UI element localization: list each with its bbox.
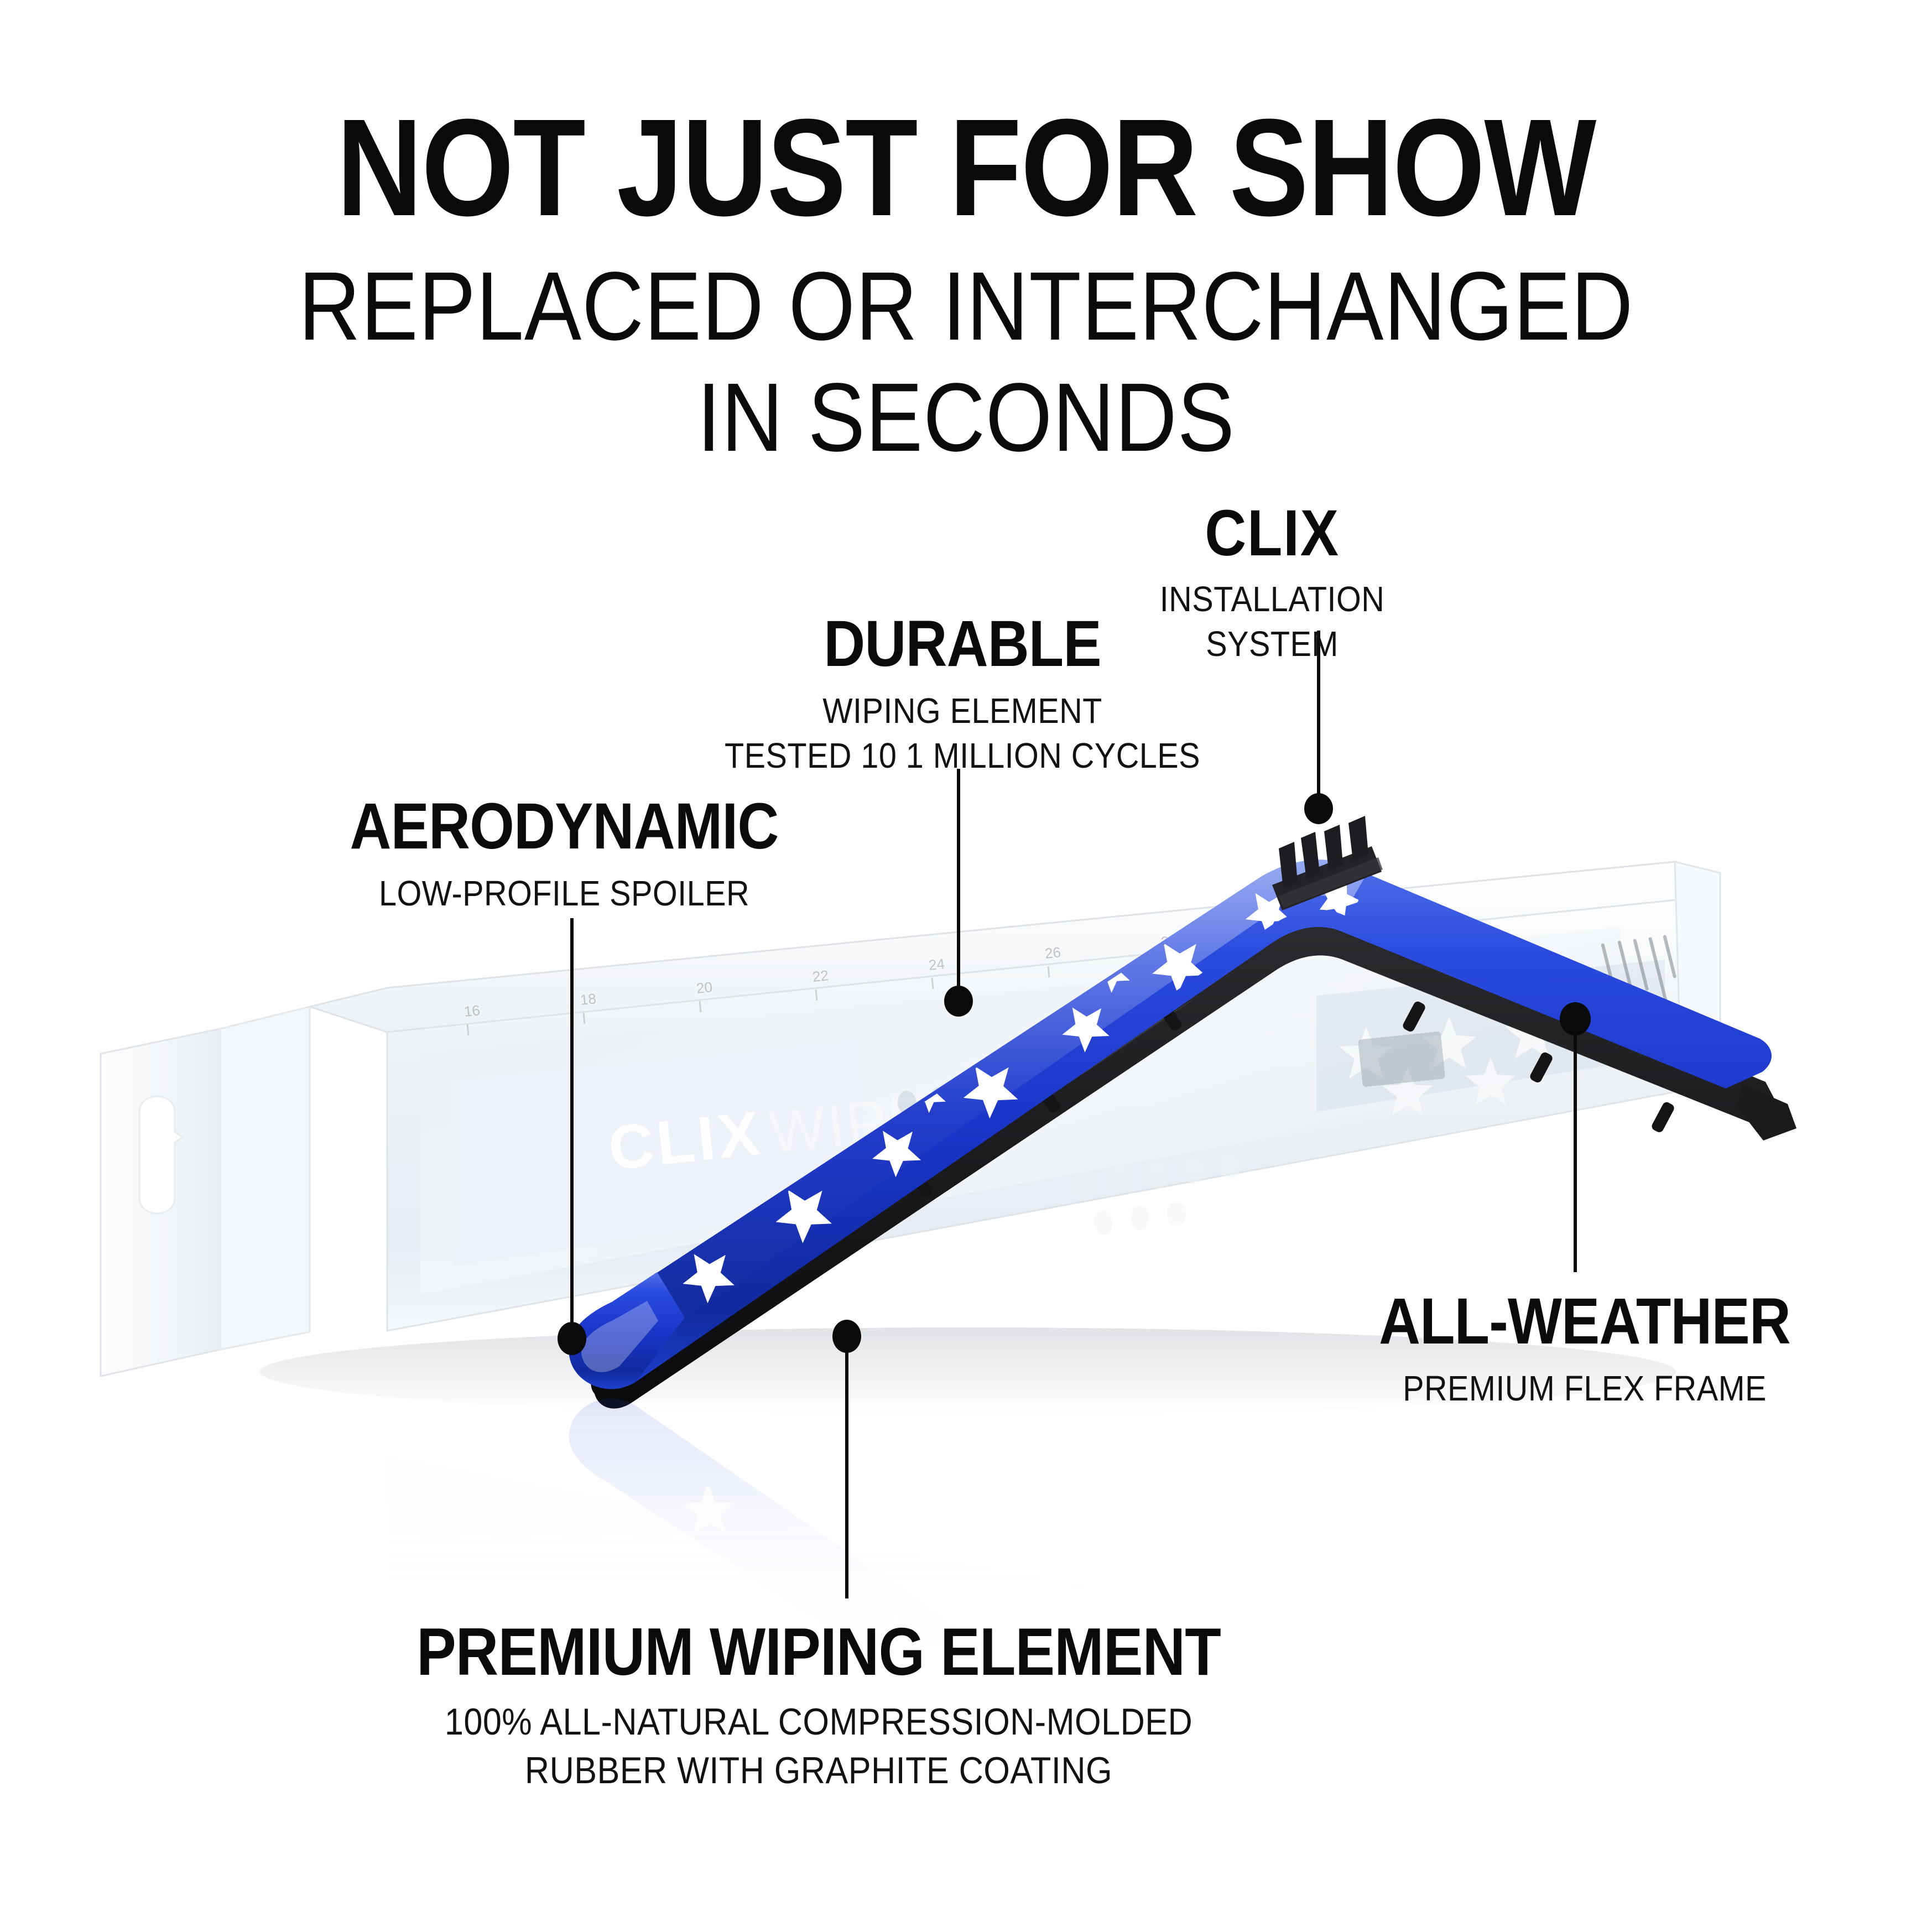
callout-clix-title: CLIX	[1092, 501, 1452, 566]
callout-all-weather-title: ALL-WEATHER	[1310, 1289, 1860, 1354]
callout-durable-sub-1: WIPING ELEMENT	[684, 690, 1241, 732]
page-title: NOT JUST FOR SHOW	[136, 0, 1797, 237]
callout-durable: DURABLE WIPING ELEMENT TESTED 10 1 MILLI…	[653, 611, 1272, 777]
page-subtitle-line-1: REPLACED OR INTERCHANGED	[116, 237, 1816, 362]
callout-premium-wiping-element: PREMIUM WIPING ELEMENT 100% ALL-NATURAL …	[260, 1618, 1377, 1793]
callout-durable-sub-2: TESTED 10 1 MILLION CYCLES	[684, 735, 1241, 777]
callout-aerodynamic: AERODYNAMIC LOW-PROFILE SPOILER	[260, 794, 868, 915]
svg-text:20: 20	[695, 978, 713, 997]
svg-text:26: 26	[1044, 944, 1061, 962]
callout-all-weather-sub-1: PREMIUM FLEX FRAME	[1304, 1367, 1866, 1410]
svg-text:18: 18	[579, 990, 597, 1008]
svg-text:16: 16	[463, 1002, 481, 1020]
callout-all-weather: ALL-WEATHER PREMIUM FLEX FRAME	[1272, 1289, 1897, 1410]
callout-aerodynamic-sub-1: LOW-PROFILE SPOILER	[290, 872, 838, 915]
callout-premium-title: PREMIUM WIPING ELEMENT	[327, 1618, 1310, 1685]
page-subtitle-line-2: IN SECONDS	[116, 362, 1816, 473]
svg-text:24: 24	[928, 955, 945, 973]
callout-aerodynamic-title: AERODYNAMIC	[296, 794, 832, 859]
callout-premium-sub-1: 100% ALL-NATURAL COMPRESSION-MOLDED	[316, 1700, 1321, 1745]
svg-text:22: 22	[811, 967, 829, 985]
callout-durable-title: DURABLE	[690, 611, 1235, 676]
callout-premium-sub-2: RUBBER WITH GRAPHITE COATING	[316, 1748, 1321, 1794]
heading-block: NOT JUST FOR SHOW REPLACED OR INTERCHANG…	[0, 0, 1932, 473]
package-fold-strip	[220, 1007, 310, 1350]
